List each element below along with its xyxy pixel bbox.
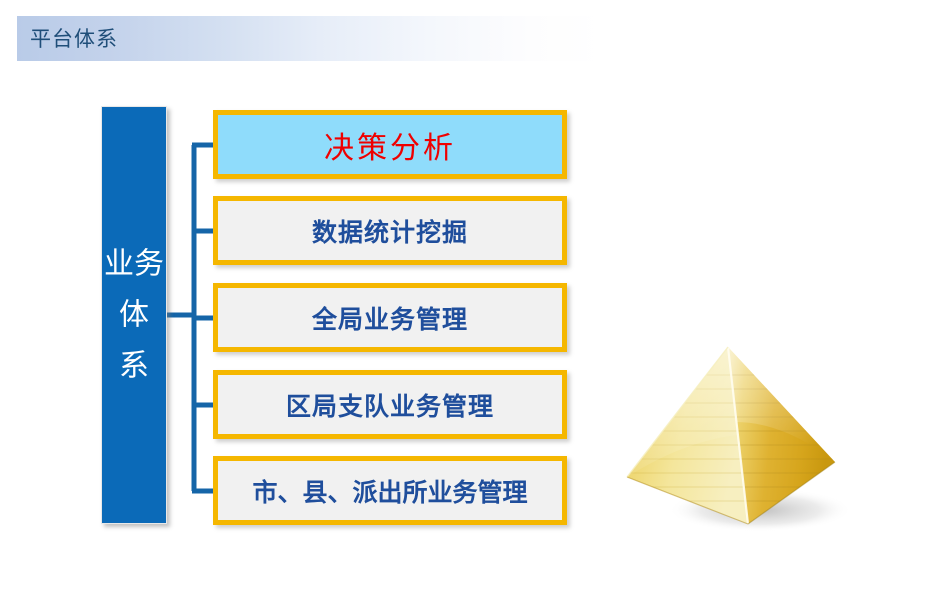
node-label: 区局支队业务管理 — [286, 387, 494, 423]
node-box-city-county-station-business-management[interactable]: 市、县、派出所业务管理 — [213, 456, 567, 525]
root-node-label: 业务 体 系 — [102, 239, 166, 392]
node-box-global-business-management[interactable]: 全局业务管理 — [213, 283, 567, 352]
node-label: 全局业务管理 — [312, 300, 468, 336]
node-label: 决策分析 — [324, 123, 456, 167]
node-label: 数据统计挖掘 — [312, 213, 468, 249]
node-box-decision-analysis[interactable]: 决策分析 — [213, 110, 567, 179]
golden-pyramid-graphic — [600, 330, 860, 545]
page-title: 平台体系 — [30, 22, 118, 56]
node-box-district-detachment-business-management[interactable]: 区局支队业务管理 — [213, 370, 567, 439]
root-node-business-system[interactable]: 业务 体 系 — [101, 106, 167, 524]
node-label: 市、县、派出所业务管理 — [252, 473, 527, 509]
node-box-data-statistics-mining[interactable]: 数据统计挖掘 — [213, 196, 567, 265]
header-band — [17, 16, 933, 61]
